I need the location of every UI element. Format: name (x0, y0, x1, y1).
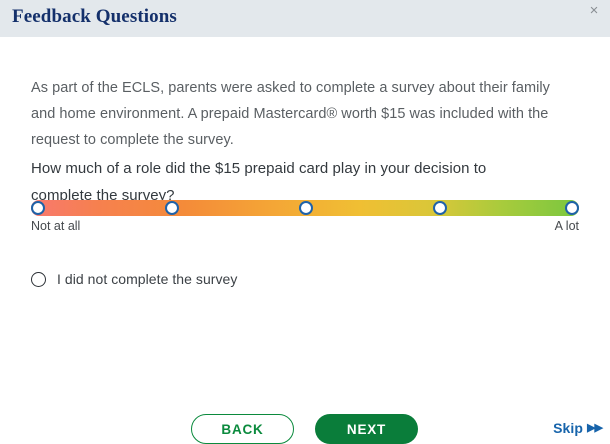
skip-link[interactable]: Skip ▶▶ (553, 420, 602, 436)
modal-body: As part of the ECLS, parents were asked … (0, 37, 610, 414)
scale-option-1[interactable] (31, 201, 45, 215)
modal-header: Feedback Questions × (0, 0, 610, 37)
scale-option-2[interactable] (165, 201, 179, 215)
optout-radio-icon[interactable] (31, 272, 46, 287)
scale-label-min: Not at all (31, 219, 80, 233)
scale-option-4[interactable] (433, 201, 447, 215)
back-button[interactable]: BACK (191, 414, 294, 444)
close-icon[interactable]: × (585, 2, 603, 20)
intro-paragraph: As part of the ECLS, parents were asked … (31, 75, 556, 153)
scale-option-3[interactable] (299, 201, 313, 215)
next-button[interactable]: NEXT (315, 414, 418, 444)
optout-option[interactable]: I did not complete the survey (31, 271, 237, 287)
scale-label-max: A lot (555, 219, 579, 233)
page-title: Feedback Questions (12, 6, 177, 28)
scale-option-5[interactable] (565, 201, 579, 215)
fast-forward-icon: ▶▶ (587, 423, 602, 434)
optout-label: I did not complete the survey (57, 271, 237, 287)
skip-label: Skip (553, 420, 583, 436)
rating-scale[interactable]: Not at all A lot (31, 200, 579, 216)
